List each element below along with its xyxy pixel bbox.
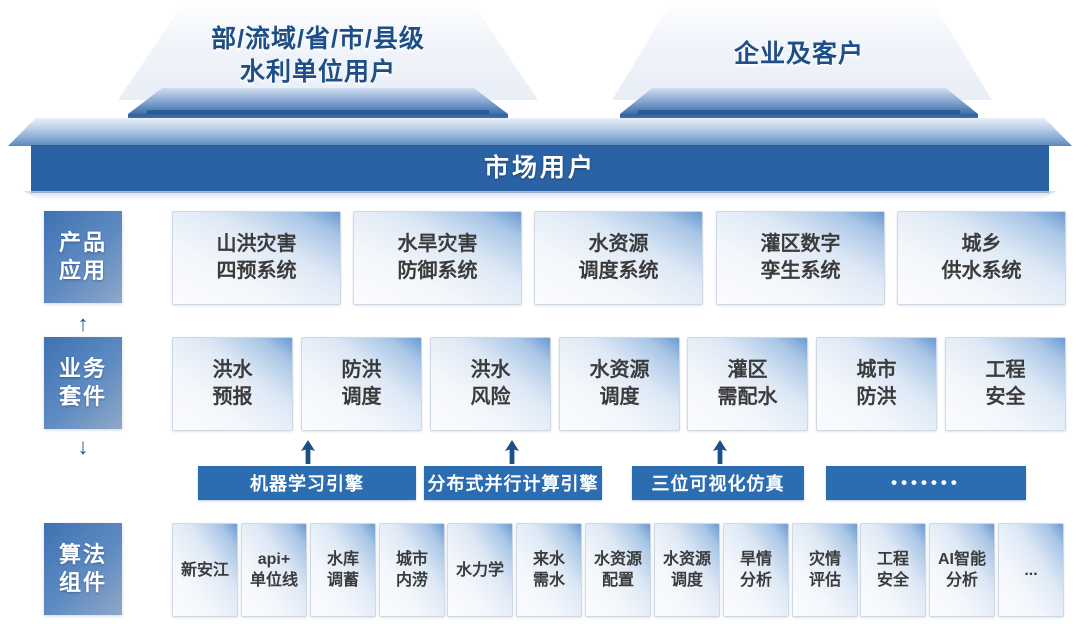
up-arrow-icon (710, 440, 730, 464)
algorithm-component-card[interactable]: 水资源 调度 (654, 523, 720, 617)
up-arrow-icon (298, 440, 318, 464)
business-suite-card[interactable]: 防洪 调度 (301, 337, 422, 431)
algorithm-component-card[interactable]: 水库 调蓄 (310, 523, 376, 617)
algorithm-component-card[interactable]: 工程 安全 (860, 523, 926, 617)
product-application-card[interactable]: 城乡 供水系统 (897, 211, 1066, 305)
algorithm-component-card[interactable]: 灾情 评估 (792, 523, 858, 617)
rail-label-product-applications: 产品 应用 (44, 211, 122, 303)
pedestal-title-enterprise: 企业及客户 (620, 38, 978, 71)
engine-bar[interactable]: ••••••• (826, 466, 1026, 500)
business-suite-card[interactable]: 灌区 需配水 (687, 337, 808, 431)
slab-top-face (8, 118, 1072, 146)
diagram-canvas: 部/流域/省/市/县级 水利单位用户 企业及客户 市场用户 产品 应用 ↑ 业务… (0, 0, 1080, 624)
engine-bar[interactable]: 机器学习引擎 (198, 466, 416, 500)
rail-arrow-up: ↑ (64, 311, 102, 337)
algorithm-component-card[interactable]: 来水 需水 (516, 523, 582, 617)
up-arrow-icon (502, 440, 522, 464)
business-suite-card[interactable]: 洪水 预报 (172, 337, 293, 431)
business-suite-card[interactable]: 工程 安全 (945, 337, 1066, 431)
product-application-card[interactable]: 水资源 调度系统 (534, 211, 703, 305)
algorithm-component-card[interactable]: 旱情 分析 (723, 523, 789, 617)
engine-bar[interactable]: 三位可视化仿真 (632, 466, 804, 500)
engine-bar[interactable]: 分布式并行计算引擎 (424, 466, 602, 500)
business-suite-card[interactable]: 城市 防洪 (816, 337, 937, 431)
rail-label-algorithm-components: 算法 组件 (44, 523, 122, 615)
algorithm-component-card[interactable]: api+ 单位线 (241, 523, 307, 617)
product-application-card[interactable]: 灌区数字 孪生系统 (716, 211, 885, 305)
slab-shadow (23, 191, 1057, 200)
rail-arrow-down: ↓ (64, 434, 102, 460)
market-users-label: 市场用户 (8, 148, 1072, 184)
algorithm-component-card[interactable]: AI智能 分析 (929, 523, 995, 617)
algorithm-component-card[interactable]: 新安江 (172, 523, 238, 617)
algorithm-component-card[interactable]: 城市 内涝 (379, 523, 445, 617)
algorithm-component-card[interactable]: ... (998, 523, 1064, 617)
pedestal-title-water-authority: 部/流域/省/市/县级 水利单位用户 (128, 23, 508, 89)
algorithm-component-card[interactable]: 水资源 配置 (585, 523, 651, 617)
market-users-slab: 市场用户 (8, 118, 1072, 198)
business-suite-card[interactable]: 水资源 调度 (559, 337, 680, 431)
algorithm-component-card[interactable]: 水力学 (447, 523, 513, 617)
product-application-card[interactable]: 水旱灾害 防御系统 (353, 211, 522, 305)
business-suite-card[interactable]: 洪水 风险 (430, 337, 551, 431)
rail-label-business-suites: 业务 套件 (44, 337, 122, 429)
product-application-card[interactable]: 山洪灾害 四预系统 (172, 211, 341, 305)
